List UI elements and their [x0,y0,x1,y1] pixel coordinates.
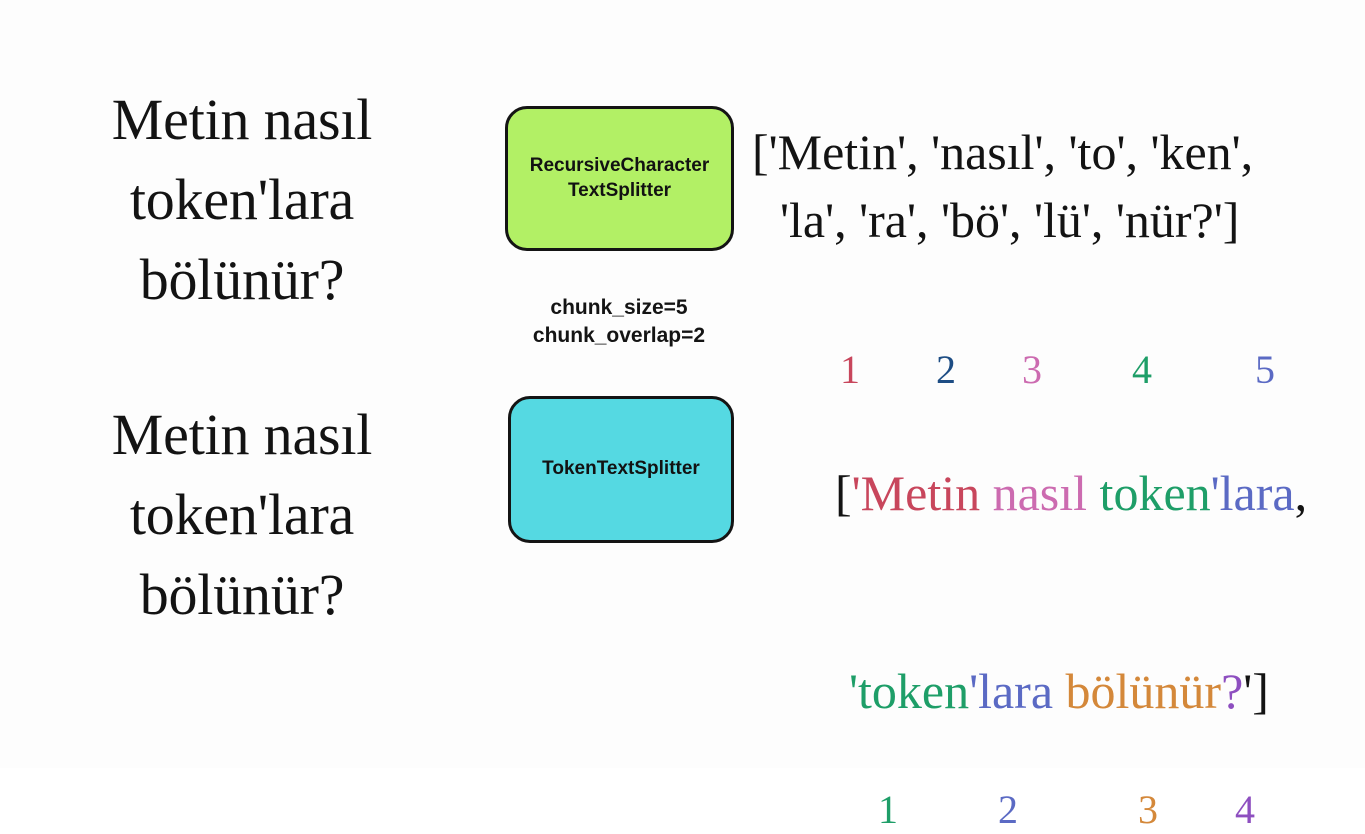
token-output-top-markers: 1 2 3 4 5 [760,350,1360,394]
recursive-output-line-2: 'la', 'ra', 'bö', 'lü', 'nür?'] [752,186,1360,254]
token-seg-1-5: , [1295,465,1308,521]
chunk-marker-bottom-2: 2 [998,790,1018,830]
input-text-token: Metin nasıl token'lara bölünür? [62,395,422,635]
token-seg-2-2: 'lara [969,663,1053,719]
recursive-splitter-label-line1: RecursiveCharacter [524,154,716,178]
recursive-character-text-splitter-box[interactable]: RecursiveCharacter TextSplitter [505,106,734,251]
chunk-marker-bottom-4: 4 [1235,790,1255,830]
token-seg-1-3: token [1087,465,1211,521]
token-seg-2-4: ? [1221,663,1243,719]
chunk-marker-top-5: 5 [1255,350,1275,390]
chunk-marker-bottom-1: 1 [878,790,898,830]
chunk-marker-top-1: 1 [840,350,860,390]
token-text-splitter-box[interactable]: TokenTextSplitter [508,396,734,543]
chunk-marker-top-3: 3 [1022,350,1042,390]
token-seg-1-2: nasıl [980,465,1087,521]
slide-canvas: Metin nasıl token'lara bölünür? Metin na… [0,0,1365,768]
recursive-output-list: ['Metin', 'nasıl', 'to', 'ken', 'la', 'r… [752,118,1360,254]
chunk-parameters: chunk_size=5 chunk_overlap=2 [490,294,748,351]
chunk-size-label: chunk_size=5 [490,294,748,322]
chunk-overlap-label: chunk_overlap=2 [490,322,748,350]
recursive-output-line-1: ['Metin', 'nasıl', 'to', 'ken', [752,118,1360,186]
token-splitter-label: TokenTextSplitter [536,457,706,481]
token-output-bottom-markers: 1 2 3 4 [760,790,1360,834]
token-seg-1-4: 'lara [1211,465,1295,521]
chunk-marker-bottom-3: 3 [1138,790,1158,830]
token-seg-2-3: bölünür [1053,663,1221,719]
token-output-line-1: ['Metin nasıl token'lara, [760,394,1360,592]
chunk-marker-top-2: 2 [936,350,956,390]
input-text-recursive: Metin nasıl token'lara bölünür? [62,80,422,320]
token-open-bracket: [ [835,465,852,521]
chunk-marker-top-4: 4 [1132,350,1152,390]
recursive-splitter-label-line2: TextSplitter [524,179,716,203]
token-seg-2-5: '] [1243,663,1269,719]
token-seg-2-1: 'token [849,663,969,719]
token-output-list: 1 2 3 4 5 ['Metin nasıl token'lara, 'tok… [760,350,1360,834]
recursive-splitter-label-wrap: RecursiveCharacter TextSplitter [524,154,716,203]
token-seg-1-1: 'Metin [852,465,980,521]
token-output-line-2: 'token'lara bölünür?'] [760,592,1360,790]
